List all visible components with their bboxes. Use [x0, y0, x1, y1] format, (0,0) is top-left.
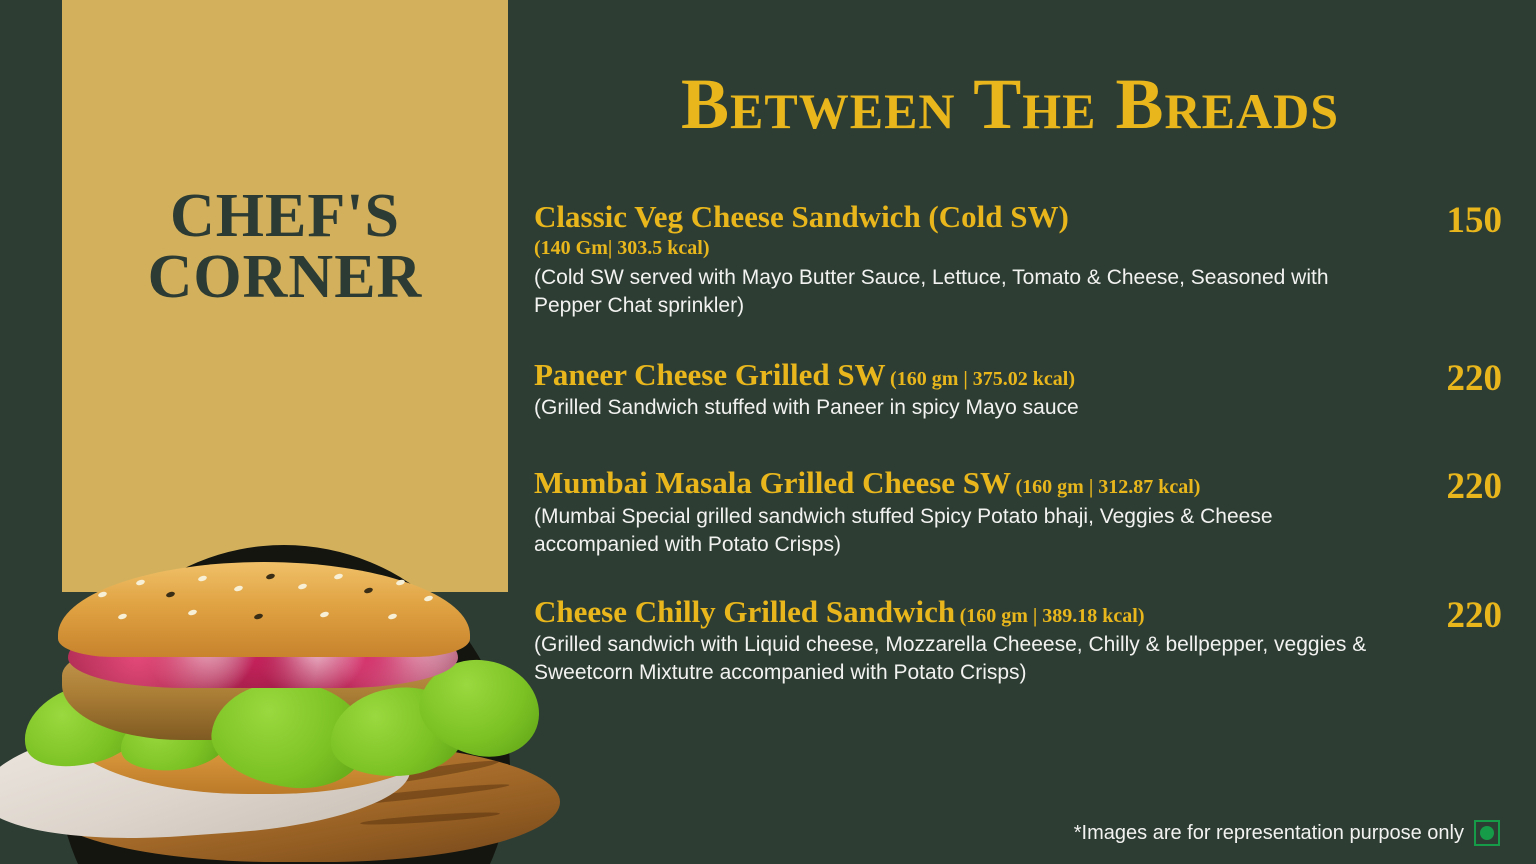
menu-item-price: 220 [1410, 358, 1502, 397]
footer: *Images are for representation purpose o… [1074, 820, 1500, 846]
menu-item-description: (Grilled Sandwich stuffed with Paneer in… [534, 394, 1394, 422]
menu-item-name: Paneer Cheese Grilled SW [534, 357, 886, 392]
sesame-seed [135, 579, 145, 587]
sesame-seed [319, 611, 329, 619]
veg-mark-icon [1474, 820, 1500, 846]
menu-item-description: (Cold SW served with Mayo Butter Sauce, … [534, 264, 1394, 320]
menu-item-description: (Mumbai Special grilled sandwich stuffed… [534, 503, 1394, 559]
sesame-seed [333, 573, 343, 581]
sesame-seed [253, 613, 263, 621]
top-bun [58, 562, 470, 657]
sesame-seed [165, 591, 175, 599]
veg-mark-dot [1480, 826, 1494, 840]
chefs-corner-title-line2: CORNER [62, 247, 508, 308]
sesame-seed [233, 585, 243, 593]
sesame-seed [197, 575, 207, 583]
menu-item: Mumbai Masala Grilled Cheese SW (160 gm … [534, 466, 1502, 559]
sesame-seed [265, 573, 275, 581]
menu-item-meta: (160 gm | 312.87 kcal) [1016, 476, 1201, 498]
menu-item-price: 220 [1410, 466, 1502, 505]
sesame-seed [117, 613, 127, 621]
sesame-seed [395, 579, 405, 587]
menu-item-meta: (160 gm | 389.18 kcal) [960, 605, 1145, 627]
sesame-seed [97, 591, 107, 599]
menu-item: Classic Veg Cheese Sandwich (Cold SW) (1… [534, 200, 1502, 320]
sesame-seed [297, 583, 307, 591]
menu-item: Cheese Chilly Grilled Sandwich (160 gm |… [534, 595, 1502, 688]
menu-item: Paneer Cheese Grilled SW (160 gm | 375.0… [534, 358, 1502, 423]
menu-item-price: 220 [1410, 595, 1502, 634]
menu-item-list: Classic Veg Cheese Sandwich (Cold SW) (1… [534, 200, 1502, 713]
menu-item-name: Mumbai Masala Grilled Cheese SW [534, 465, 1011, 500]
page-title: Between The Breads [530, 68, 1490, 140]
sesame-seed [187, 609, 197, 617]
menu-item-description: (Grilled sandwich with Liquid cheese, Mo… [534, 631, 1394, 687]
menu-item-name: Cheese Chilly Grilled Sandwich [534, 594, 955, 629]
chefs-corner-title: CHEF'S CORNER [62, 186, 508, 308]
menu-item-meta: (140 Gm| 303.5 kcal) [534, 235, 1394, 262]
menu-board: CHEF'S CORNER [0, 0, 1536, 864]
sesame-seed [387, 613, 397, 621]
menu-item-name: Classic Veg Cheese Sandwich (Cold SW) [534, 199, 1069, 234]
disclaimer-text: *Images are for representation purpose o… [1074, 822, 1464, 845]
chefs-corner-title-line1: CHEF'S [62, 186, 508, 247]
veggie-burger-photo [0, 470, 570, 864]
menu-item-meta: (160 gm | 375.02 kcal) [890, 368, 1075, 390]
sesame-seed [423, 595, 433, 603]
menu-item-price: 150 [1410, 200, 1502, 239]
sesame-seed [363, 587, 373, 595]
